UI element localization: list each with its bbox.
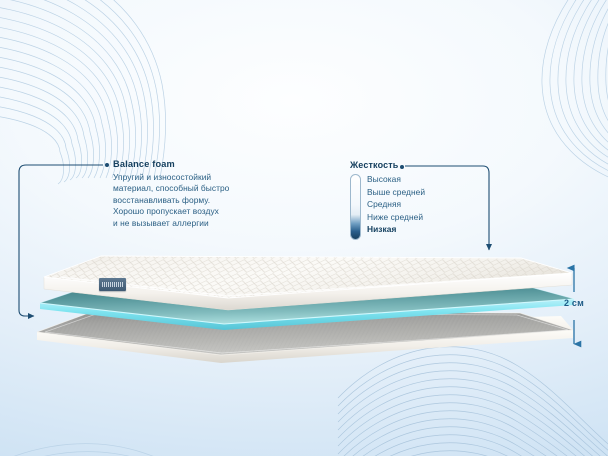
hardness-option-srednyaya[interactable]: Средняя (367, 198, 425, 211)
hardness-option-vyshe-sredney[interactable]: Выше средней (367, 186, 425, 199)
dimension-marker: 2 см (552, 262, 596, 350)
mattress-layers-diagram (0, 0, 608, 456)
callout-balance-foam: Balance foam Упругий и износостойкий мат… (113, 158, 273, 229)
hardness-option-nizkaya-selected[interactable]: Низкая (367, 223, 425, 236)
hardness-title: Жесткость (350, 160, 480, 170)
hardness-option-vysokaya[interactable]: Высокая (367, 173, 425, 186)
callout-foam-title: Balance foam (113, 158, 273, 170)
callout-foam-line-3: восстанавливать форму. (113, 195, 273, 206)
bullet-dot-foam (105, 163, 109, 167)
dimension-label: 2 см (552, 298, 596, 308)
callout-foam-line-1: Упругий и износостойкий (113, 172, 273, 183)
brand-label-tag (99, 278, 126, 291)
hardness-options-list: Высокая Выше средней Средняя Ниже средне… (367, 173, 425, 236)
product-illustration: Balance foam Упругий и износостойкий мат… (0, 0, 608, 456)
callout-foam-body: Упругий и износостойкий материал, способ… (113, 172, 273, 229)
callout-foam-line-5: и не вызывает аллергии (113, 218, 273, 229)
brand-label-text (102, 282, 123, 287)
callout-hardness: Жесткость Высокая Выше средней Средняя Н… (350, 160, 480, 240)
hardness-gauge-icon (350, 174, 361, 240)
callout-foam-line-2: материал, способный быстро (113, 183, 273, 194)
callout-foam-line-4: Хорошо пропускает воздух (113, 206, 273, 217)
hardness-option-nizhe-sredney[interactable]: Ниже средней (367, 211, 425, 224)
